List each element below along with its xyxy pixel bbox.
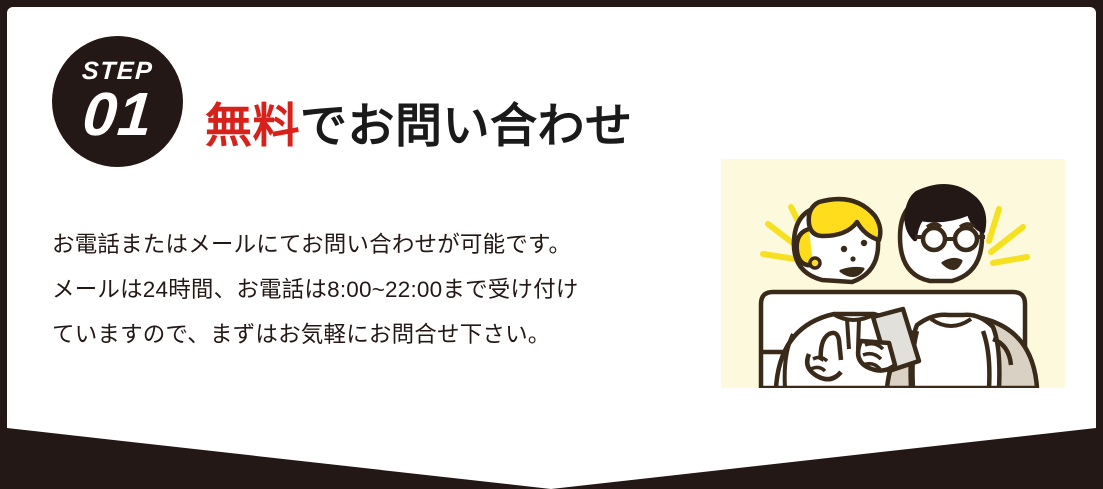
card-surface: STEP 01 無料でお問い合わせ お電話またはメールにてお問い合わせが可能です… bbox=[7, 7, 1096, 489]
page-title-highlight: 無料 bbox=[205, 99, 300, 152]
body-copy: お電話またはメールにてお問い合わせが可能です。 メールは24時間、お電話は8:0… bbox=[52, 222, 712, 357]
page-title-rest: でお問い合わせ bbox=[300, 99, 633, 152]
body-copy-line-3: ていますので、まずはお気軽にお問合せ下さい。 bbox=[52, 312, 712, 357]
illustration-two-people-with-smartphone bbox=[721, 159, 1065, 388]
step-card-banner: STEP 01 無料でお問い合わせ お電話またはメールにてお問い合わせが可能です… bbox=[0, 0, 1103, 489]
page-title: 無料でお問い合わせ bbox=[205, 102, 633, 149]
body-copy-line-2: メールは24時間、お電話は8:00~22:00まで受け付け bbox=[52, 267, 712, 312]
step-badge: STEP 01 bbox=[52, 36, 183, 167]
body-copy-line-1: お電話またはメールにてお問い合わせが可能です。 bbox=[52, 222, 712, 267]
step-badge-number: 01 bbox=[80, 86, 155, 144]
